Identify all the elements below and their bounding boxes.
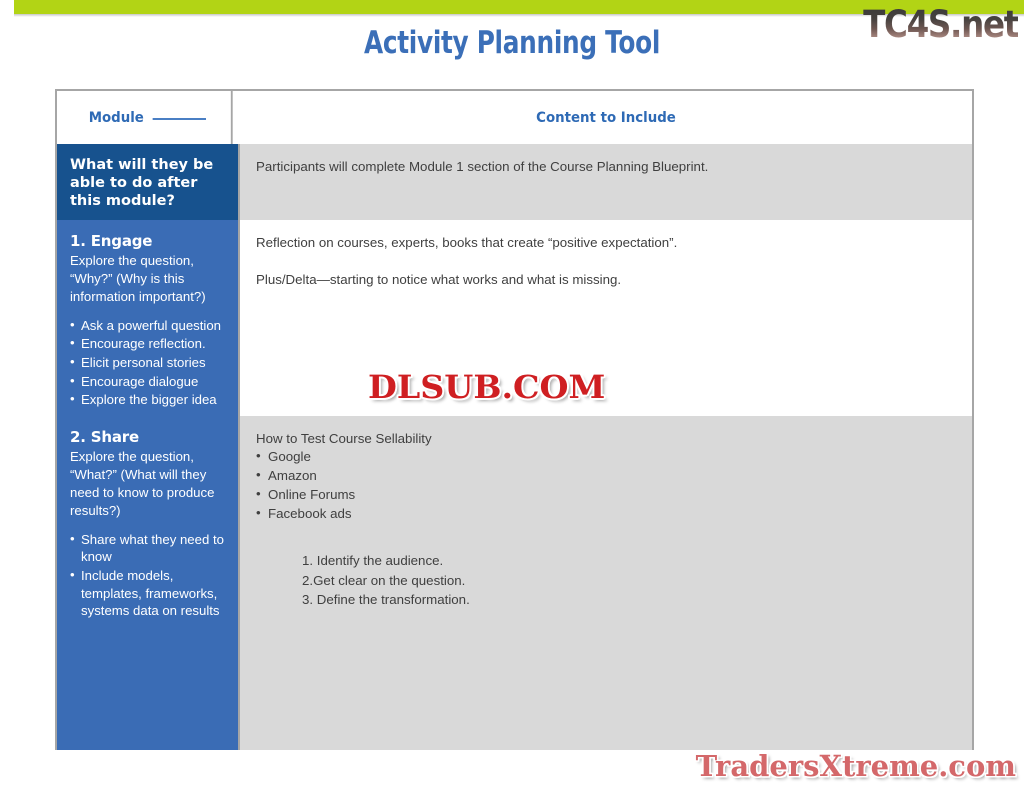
column-header-module-label: Module: [89, 110, 144, 126]
table-header-row: Module Content to Include: [57, 91, 972, 144]
list-item: Online Forums: [256, 486, 956, 505]
list-item: Share what they need to know: [70, 531, 226, 566]
list-item: 3. Define the transformation.: [302, 590, 956, 609]
list-item: Elicit personal stories: [70, 354, 226, 372]
list-item: Encourage reflection.: [70, 335, 226, 353]
engage-stage-bullet-list: Ask a powerful question Encourage reflec…: [70, 317, 226, 409]
engage-stage-cell: 1. Engage Explore the question, “Why?” (…: [57, 220, 240, 416]
slide-canvas: TC4S.net Activity Planning Tool Module C…: [0, 0, 1024, 791]
table-row: What will they be able to do after this …: [57, 144, 972, 220]
activity-planning-table: Module Content to Include What will they…: [55, 89, 974, 750]
table-row: 2. Share Explore the question, “What?” (…: [57, 416, 972, 750]
outcome-question-cell: What will they be able to do after this …: [57, 144, 240, 220]
module-blank-underline[interactable]: [153, 118, 206, 120]
column-header-content: Content to Include: [269, 91, 942, 144]
share-stage-title: 2. Share: [70, 427, 226, 447]
share-content-bullet-list: Google Amazon Online Forums Facebook ads: [256, 448, 956, 524]
list-item: Encourage dialogue: [70, 373, 226, 391]
outcome-content-cell: Participants will complete Module 1 sect…: [240, 144, 972, 220]
engage-content-paragraph-1: Reflection on courses, experts, books th…: [256, 234, 956, 253]
engage-stage-lead: Explore the question, “Why?” (Why is thi…: [70, 252, 226, 305]
outcome-content-paragraph: Participants will complete Module 1 sect…: [256, 158, 956, 176]
list-item: Google: [256, 448, 956, 467]
tradersxtreme-watermark: TradersXtreme.com: [696, 749, 1016, 783]
share-stage-lead: Explore the question, “What?” (What will…: [70, 448, 226, 519]
list-item: 1. Identify the audience.: [302, 551, 956, 570]
list-item: Facebook ads: [256, 505, 956, 524]
column-header-module: Module: [64, 91, 232, 144]
share-content-cell: How to Test Course Sellability Google Am…: [240, 416, 972, 750]
list-item: Amazon: [256, 467, 956, 486]
list-item: Ask a powerful question: [70, 317, 226, 335]
list-item: 2.Get clear on the question.: [302, 571, 956, 590]
page-title: Activity Planning Tool: [102, 25, 921, 61]
share-stage-cell: 2. Share Explore the question, “What?” (…: [57, 416, 240, 750]
outcome-question-heading: What will they be able to do after this …: [70, 157, 224, 211]
list-item: Include models, templates, frameworks, s…: [70, 567, 226, 620]
list-item: Explore the bigger idea: [70, 391, 226, 409]
engage-stage-title: 1. Engage: [70, 231, 226, 251]
share-content-list-title: How to Test Course Sellability: [256, 430, 956, 448]
engage-content-cell: Reflection on courses, experts, books th…: [240, 220, 972, 416]
share-stage-bullet-list: Share what they need to know Include mod…: [70, 531, 226, 620]
engage-content-paragraph-2: Plus/Delta—starting to notice what works…: [256, 271, 956, 290]
share-content-numbered-list: 1. Identify the audience. 2.Get clear on…: [302, 551, 956, 609]
dlsub-watermark: DLSUB.COM: [368, 368, 605, 406]
